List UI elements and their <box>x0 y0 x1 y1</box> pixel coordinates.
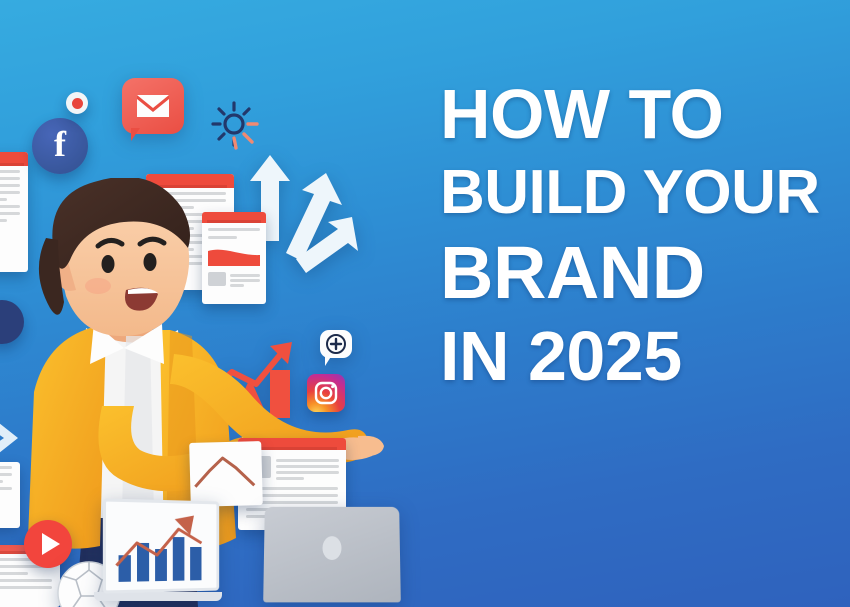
headline-line-2: BUILD YOUR <box>440 164 840 222</box>
gmail-bubble-icon[interactable] <box>122 78 184 140</box>
headline-line-4: IN 2025 <box>440 324 840 390</box>
document-card-4 <box>189 441 263 507</box>
laptop-chart-device <box>104 500 224 607</box>
document-card-6 <box>0 462 20 528</box>
document-card-header <box>0 152 28 166</box>
headline-line-3: BRAND <box>440 238 840 308</box>
laptop-logo <box>322 536 341 560</box>
poster-canvas: f <box>0 0 850 607</box>
laptop-device <box>256 506 408 607</box>
envelope-glyph <box>136 94 170 118</box>
document-line-chart <box>189 441 262 499</box>
laptop-screen-bar-chart <box>106 502 213 587</box>
page-title: HOW TO BUILD YOUR BRAND IN 2025 <box>440 82 840 405</box>
facebook-icon[interactable]: f <box>32 118 88 174</box>
notification-dot-icon <box>66 92 88 114</box>
settings-sun-icon[interactable] <box>208 98 260 150</box>
facebook-glyph: f <box>54 123 66 165</box>
headline-line-1: HOW TO <box>440 82 840 148</box>
